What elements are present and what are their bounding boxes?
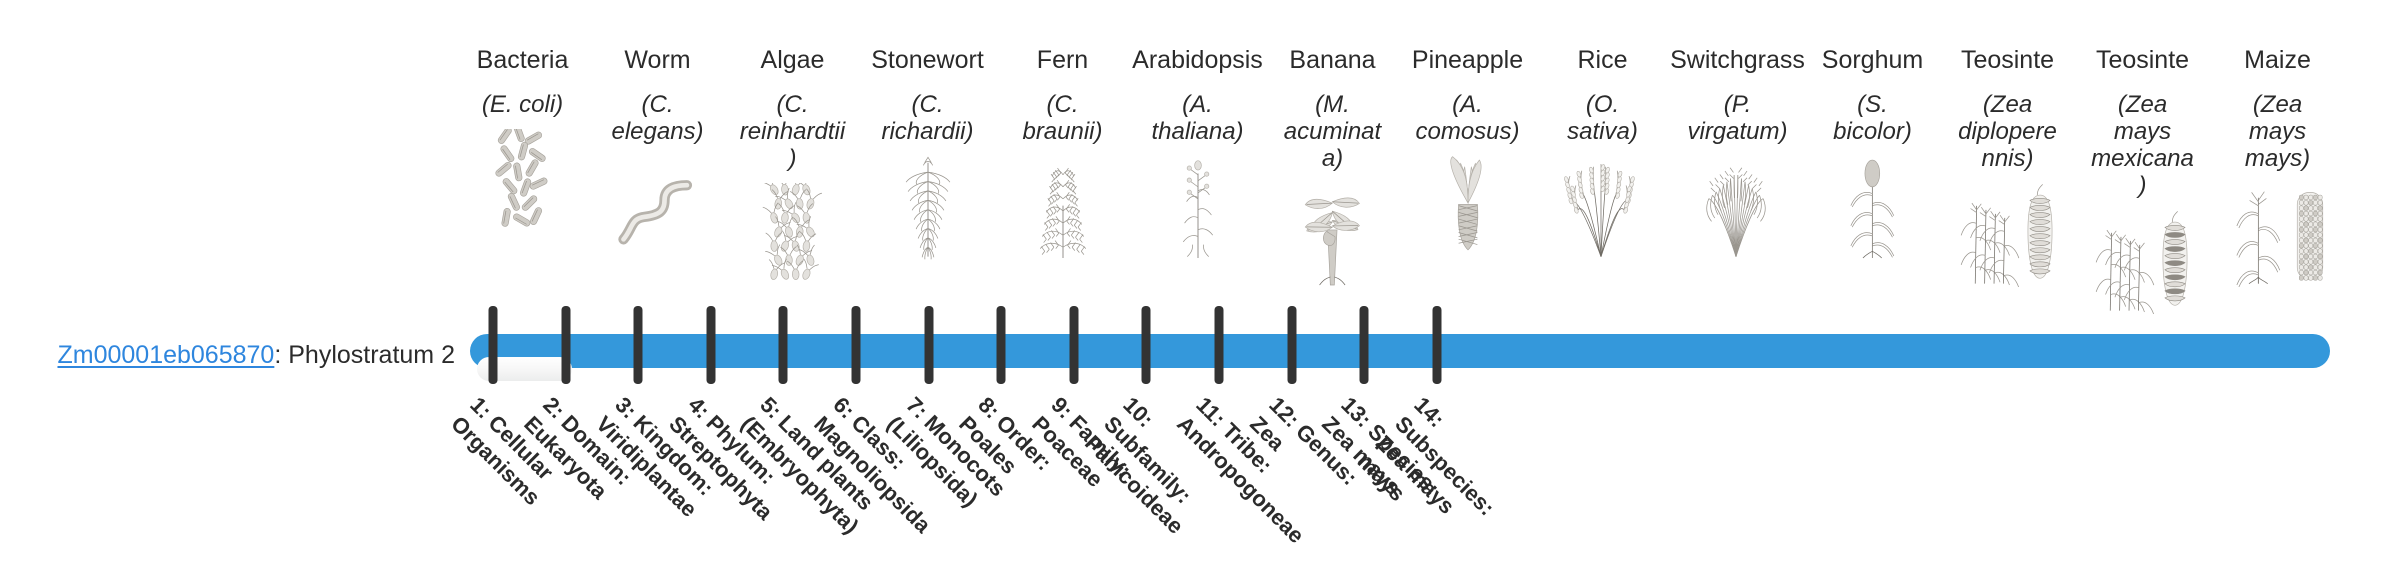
species-column: Algae(C. reinhardtii) (725, 46, 860, 316)
phylostratum-tick[interactable] (1287, 306, 1296, 384)
phylostratum-tick[interactable] (634, 306, 643, 384)
species-scientific-name: (M. acuminata) (1278, 92, 1388, 173)
stonewort-illustration (860, 152, 995, 260)
species-scientific-name: (Zea diploperennis) (1953, 92, 2063, 173)
phylostratum-value: Phylostratum 2 (288, 341, 455, 369)
phylostratum-tick[interactable] (1215, 306, 1224, 384)
species-scientific-name: (C. richardii) (873, 92, 983, 146)
gene-label-separator: : (274, 341, 288, 369)
species-common-name: Worm (624, 46, 690, 80)
species-common-name: Stonewort (871, 46, 984, 80)
species-column: Pineapple(A. comosus) (1400, 46, 1535, 316)
gene-phylostratum-label: Zm00001eb065870: Phylostratum 2 (0, 340, 455, 370)
species-common-name: Teosinte (2096, 46, 2189, 80)
species-common-name: Algae (761, 46, 825, 80)
species-common-name: Teosinte (1961, 46, 2054, 80)
banana-illustration (1265, 179, 1400, 287)
species-column: Teosinte(Zea diploperennis) (1940, 46, 2075, 316)
arabidopsis-illustration (1130, 152, 1265, 260)
species-column: Switchgrass(P. virgatum) (1670, 46, 1805, 316)
phylostratum-tick[interactable] (1360, 306, 1369, 384)
species-common-name: Banana (1289, 46, 1375, 80)
species-column: Fern(C. braunii) (995, 46, 1130, 316)
phylostratum-track: Zm00001eb065870: Phylostratum 2 Bacteria… (0, 0, 2400, 580)
phylostratum-tick[interactable] (1069, 306, 1078, 384)
species-scientific-name: (S. bicolor) (1818, 92, 1928, 146)
phylostratum-axis (455, 316, 2345, 376)
species-common-name: Fern (1037, 46, 1088, 80)
species-column: Worm(C. elegans) (590, 46, 725, 316)
species-common-name: Pineapple (1412, 46, 1523, 80)
teosinte-diploperennis-illustration (1940, 179, 2075, 287)
rank-label-group: 1: Cellular Organisms2: Domain: Eukaryot… (0, 392, 2400, 580)
phylostratum-tick[interactable] (561, 306, 570, 384)
species-scientific-name: (Zea mays mays) (2223, 92, 2333, 173)
species-column: Sorghum(S. bicolor) (1805, 46, 1940, 316)
species-common-name: Rice (1577, 46, 1627, 80)
species-common-name: Arabidopsis (1132, 46, 1263, 80)
species-scientific-name: (C. reinhardtii) (738, 92, 848, 173)
phylostratum-tick[interactable] (1142, 306, 1151, 384)
species-header-row: Bacteria(E. coli)Worm(C. elegans) Algae(… (455, 46, 2345, 316)
species-column: Stonewort(C. richardii) (860, 46, 995, 316)
species-column: Arabidopsis(A. thaliana) (1130, 46, 1265, 316)
fern-illustration (995, 152, 1130, 260)
species-common-name: Sorghum (1822, 46, 1923, 80)
phylostratum-tick[interactable] (924, 306, 933, 384)
species-column: Rice(O. sativa) (1535, 46, 1670, 316)
algae-illustration (725, 179, 860, 287)
species-scientific-name: (A. thaliana) (1143, 92, 1253, 146)
species-common-name: Switchgrass (1670, 46, 1805, 80)
gene-id-link[interactable]: Zm00001eb065870 (57, 341, 274, 369)
worm-illustration (590, 152, 725, 260)
maize-illustration (2210, 179, 2345, 287)
phylostratum-tick[interactable] (852, 306, 861, 384)
species-scientific-name: (C. braunii) (1008, 92, 1118, 146)
species-column: Teosinte(Zea mays mexicana) (2075, 46, 2210, 316)
phylostratum-tick[interactable] (1432, 306, 1441, 384)
species-column: Banana(M. acuminata) (1265, 46, 1400, 316)
species-column: Maize(Zea mays mays) (2210, 46, 2345, 316)
species-scientific-name: (A. comosus) (1413, 92, 1523, 146)
phylostratum-tick[interactable] (706, 306, 715, 384)
phylostratum-tick[interactable] (779, 306, 788, 384)
species-scientific-name: (C. elegans) (603, 92, 713, 146)
bacteria-illustration (455, 125, 590, 233)
pineapple-illustration (1400, 152, 1535, 260)
species-common-name: Maize (2244, 46, 2311, 80)
sorghum-illustration (1805, 152, 1940, 260)
rice-illustration (1535, 152, 1670, 260)
phylostratum-tick[interactable] (489, 306, 498, 384)
species-column: Bacteria(E. coli) (455, 46, 590, 316)
species-common-name: Bacteria (477, 46, 569, 80)
species-scientific-name: (O. sativa) (1548, 92, 1658, 146)
species-scientific-name: (Zea mays mexicana) (2088, 92, 2198, 200)
switchgrass-illustration (1670, 152, 1805, 260)
tick-group (455, 316, 2345, 376)
species-scientific-name: (E. coli) (482, 92, 563, 119)
teosinte-mexicana-illustration (2075, 206, 2210, 314)
phylostratum-tick[interactable] (997, 306, 1006, 384)
species-scientific-name: (P. virgatum) (1683, 92, 1793, 146)
